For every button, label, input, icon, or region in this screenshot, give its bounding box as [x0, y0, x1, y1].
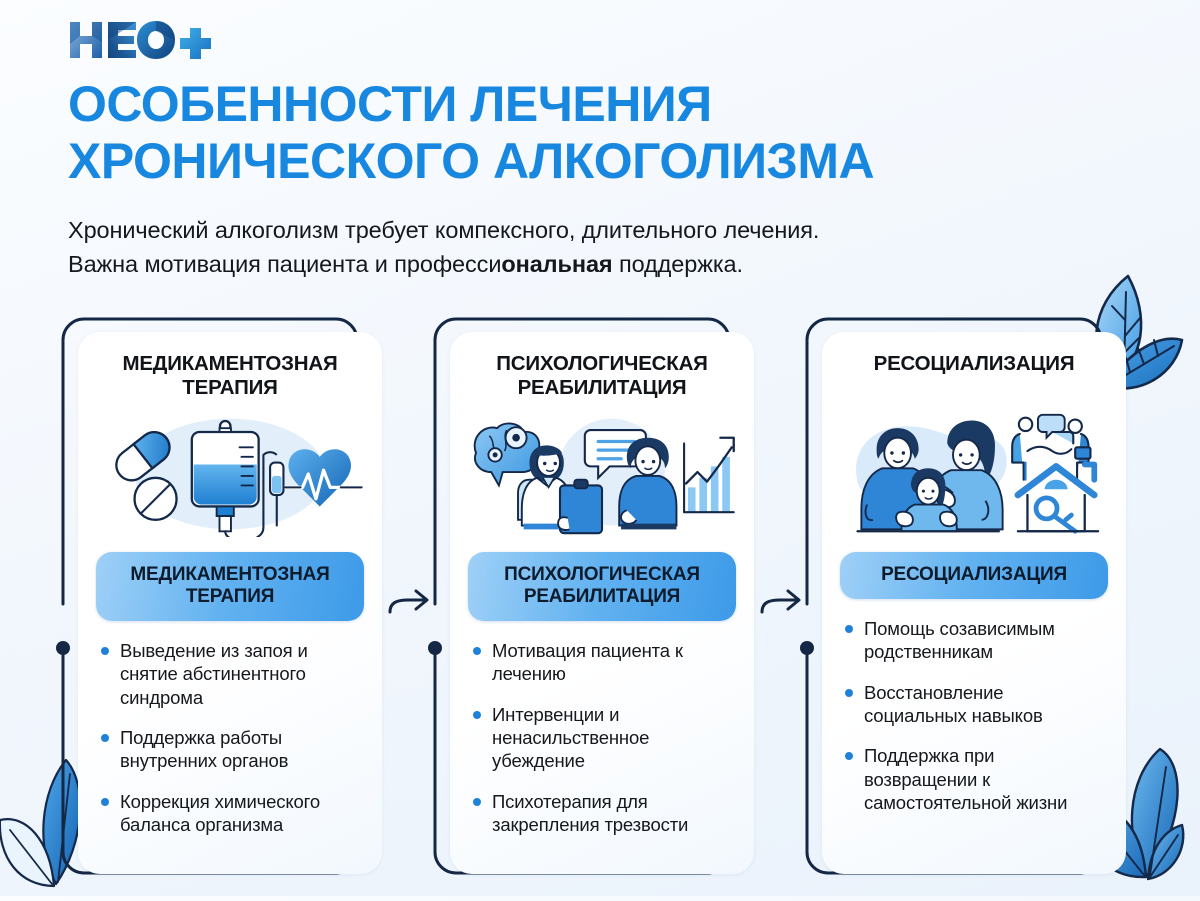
list-item: Помощь созависимым родственникам [844, 617, 1108, 664]
card-body: РЕСОЦИАЛИЗАЦИЯ [822, 332, 1126, 874]
list-item: Поддержка при возвращении к самостоятель… [844, 744, 1108, 814]
card-bullet-list: Мотивация пациента к лечению Интервенции… [468, 639, 736, 836]
medication-illustration-icon [96, 408, 364, 540]
page-subtitle: Хронический алкоголизм требует компексно… [68, 213, 1068, 282]
card-badge[interactable]: РЕСОЦИАЛИЗАЦИЯ [840, 552, 1108, 599]
page-title: ОСОБЕННОСТИ ЛЕЧЕНИЯ ХРОНИЧЕСКОГО АЛКОГОЛ… [68, 76, 1148, 190]
list-item: Поддержка работы внутренних органов [100, 726, 364, 773]
subtitle-line-2-part-2: поддержка. [613, 251, 743, 277]
card-body: ПСИХОЛОГИЧЕСКАЯ РЕАБИЛИТАЦИЯ [450, 332, 754, 874]
card-heading: ПСИХОЛОГИЧЕСКАЯ РЕАБИЛИТАЦИЯ [468, 352, 736, 402]
card-heading: РЕСОЦИАЛИЗАЦИЯ [840, 352, 1108, 402]
subtitle-emphasis: ональная [501, 251, 612, 277]
neo-plus-logo-icon [68, 18, 228, 66]
card-badge[interactable]: ПСИХОЛОГИЧЕСКАЯ РЕАБИЛИТАЦИЯ [468, 552, 736, 621]
page-title-line-2: ХРОНИЧЕСКОГО АЛКОГОЛИЗМА [68, 133, 1148, 190]
infographic-page: ОСОБЕННОСТИ ЛЕЧЕНИЯ ХРОНИЧЕСКОГО АЛКОГОЛ… [0, 0, 1200, 896]
brand-logo [68, 18, 228, 66]
arrow-card1-to-card2-icon [388, 580, 432, 620]
card-resocialization[interactable]: РЕСОЦИАЛИЗАЦИЯ [806, 318, 1126, 878]
list-item: Выведение из запоя и снятие абстинентног… [100, 639, 364, 709]
card-psychological-rehabilitation[interactable]: ПСИХОЛОГИЧЕСКАЯ РЕАБИЛИТАЦИЯ [434, 318, 754, 878]
therapy-session-illustration-icon [468, 408, 736, 540]
family-resocialization-illustration-icon [840, 408, 1108, 540]
card-bullet-list: Помощь созависимым родственникам Восстан… [840, 617, 1108, 814]
list-item: Коррекция химического баланса организма [100, 790, 364, 837]
subtitle-line-1: Хронический алкоголизм требует компексно… [68, 217, 819, 243]
card-bullet-list: Выведение из запоя и снятие абстинентног… [96, 639, 364, 836]
list-item: Восстановление социальных навыков [844, 681, 1108, 728]
list-item: Мотивация пациента к лечению [472, 639, 736, 686]
arrow-card2-to-card3-icon [760, 580, 804, 620]
card-badge[interactable]: МЕДИКАМЕНТОЗНАЯ ТЕРАПИЯ [96, 552, 364, 621]
card-medication-therapy[interactable]: МЕДИКАМЕНТОЗНАЯ ТЕРАПИЯ [62, 318, 382, 878]
card-heading: МЕДИКАМЕНТОЗНАЯ ТЕРАПИЯ [96, 352, 364, 402]
cards-row: МЕДИКАМЕНТОЗНАЯ ТЕРАПИЯ [0, 318, 1200, 878]
subtitle-line-2-part-1: Важна мотивация пациента и професси [68, 251, 501, 277]
list-item: Интервенции и ненасильственное убеждение [472, 703, 736, 773]
page-title-line-1: ОСОБЕННОСТИ ЛЕЧЕНИЯ [68, 76, 712, 132]
card-body: МЕДИКАМЕНТОЗНАЯ ТЕРАПИЯ [78, 332, 382, 874]
list-item: Психотерапия для закрепления трезвости [472, 790, 736, 837]
